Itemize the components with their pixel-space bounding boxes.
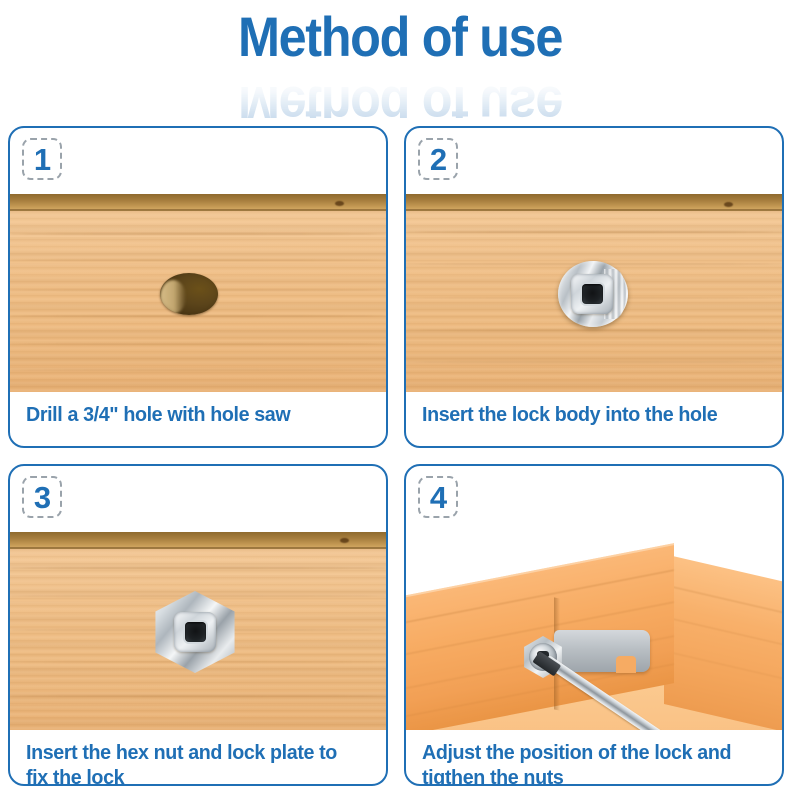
board-face bbox=[10, 549, 386, 730]
lock-keyway bbox=[185, 622, 206, 642]
step-panel-4: 4 bbox=[404, 464, 784, 786]
steps-grid: 1 Drill a 3/4" hole with hole saw 2 bbox=[8, 126, 792, 792]
step-panel-2: 2 Insert the lock body into the hole bbox=[404, 126, 784, 448]
step-caption-2: Insert the lock body into the hole bbox=[406, 394, 782, 446]
step-caption-4-text: Adjust the position of the lock and tigt… bbox=[422, 740, 754, 786]
cam-arm bbox=[554, 630, 650, 672]
step-badge-4: 4 bbox=[418, 476, 458, 518]
page-title-reflection: Method of use bbox=[40, 76, 760, 118]
step-caption-3: Insert the hex nut and lock plate to fix… bbox=[10, 732, 386, 784]
board-face bbox=[406, 211, 782, 392]
step-image-3 bbox=[10, 532, 386, 730]
step-caption-2-text: Insert the lock body into the hole bbox=[422, 402, 717, 427]
step-caption-1-text: Drill a 3/4" hole with hole saw bbox=[26, 402, 290, 427]
step-panel-1: 1 Drill a 3/4" hole with hole saw bbox=[8, 126, 388, 448]
page-header: Method of use Method of use bbox=[0, 0, 800, 118]
wood-knot bbox=[335, 201, 344, 206]
step-image-2 bbox=[406, 194, 782, 392]
lock-keyway bbox=[582, 284, 603, 304]
step-image-1 bbox=[10, 194, 386, 392]
step-badge-3: 3 bbox=[22, 476, 62, 518]
step-image-4 bbox=[406, 532, 782, 730]
step-badge-2: 2 bbox=[418, 138, 458, 180]
page-title: Method of use bbox=[40, 8, 760, 67]
wood-knot bbox=[340, 538, 349, 543]
drilled-hole bbox=[160, 273, 218, 315]
step-badge-1: 1 bbox=[22, 138, 62, 180]
step-caption-3-text: Insert the hex nut and lock plate to fix… bbox=[26, 740, 358, 786]
step-panel-3: 3 Insert the hex nut and lock plate to f… bbox=[8, 464, 388, 786]
wood-knot bbox=[724, 202, 733, 207]
board-face bbox=[10, 211, 386, 392]
board-top-edge bbox=[10, 194, 386, 211]
board-top-edge bbox=[10, 532, 386, 549]
step-caption-1: Drill a 3/4" hole with hole saw bbox=[10, 394, 386, 446]
drawer-corner bbox=[406, 532, 782, 730]
lock-body-hardware bbox=[558, 261, 628, 327]
drawer-side-panel bbox=[664, 554, 782, 730]
step-caption-4: Adjust the position of the lock and tigt… bbox=[406, 732, 782, 784]
